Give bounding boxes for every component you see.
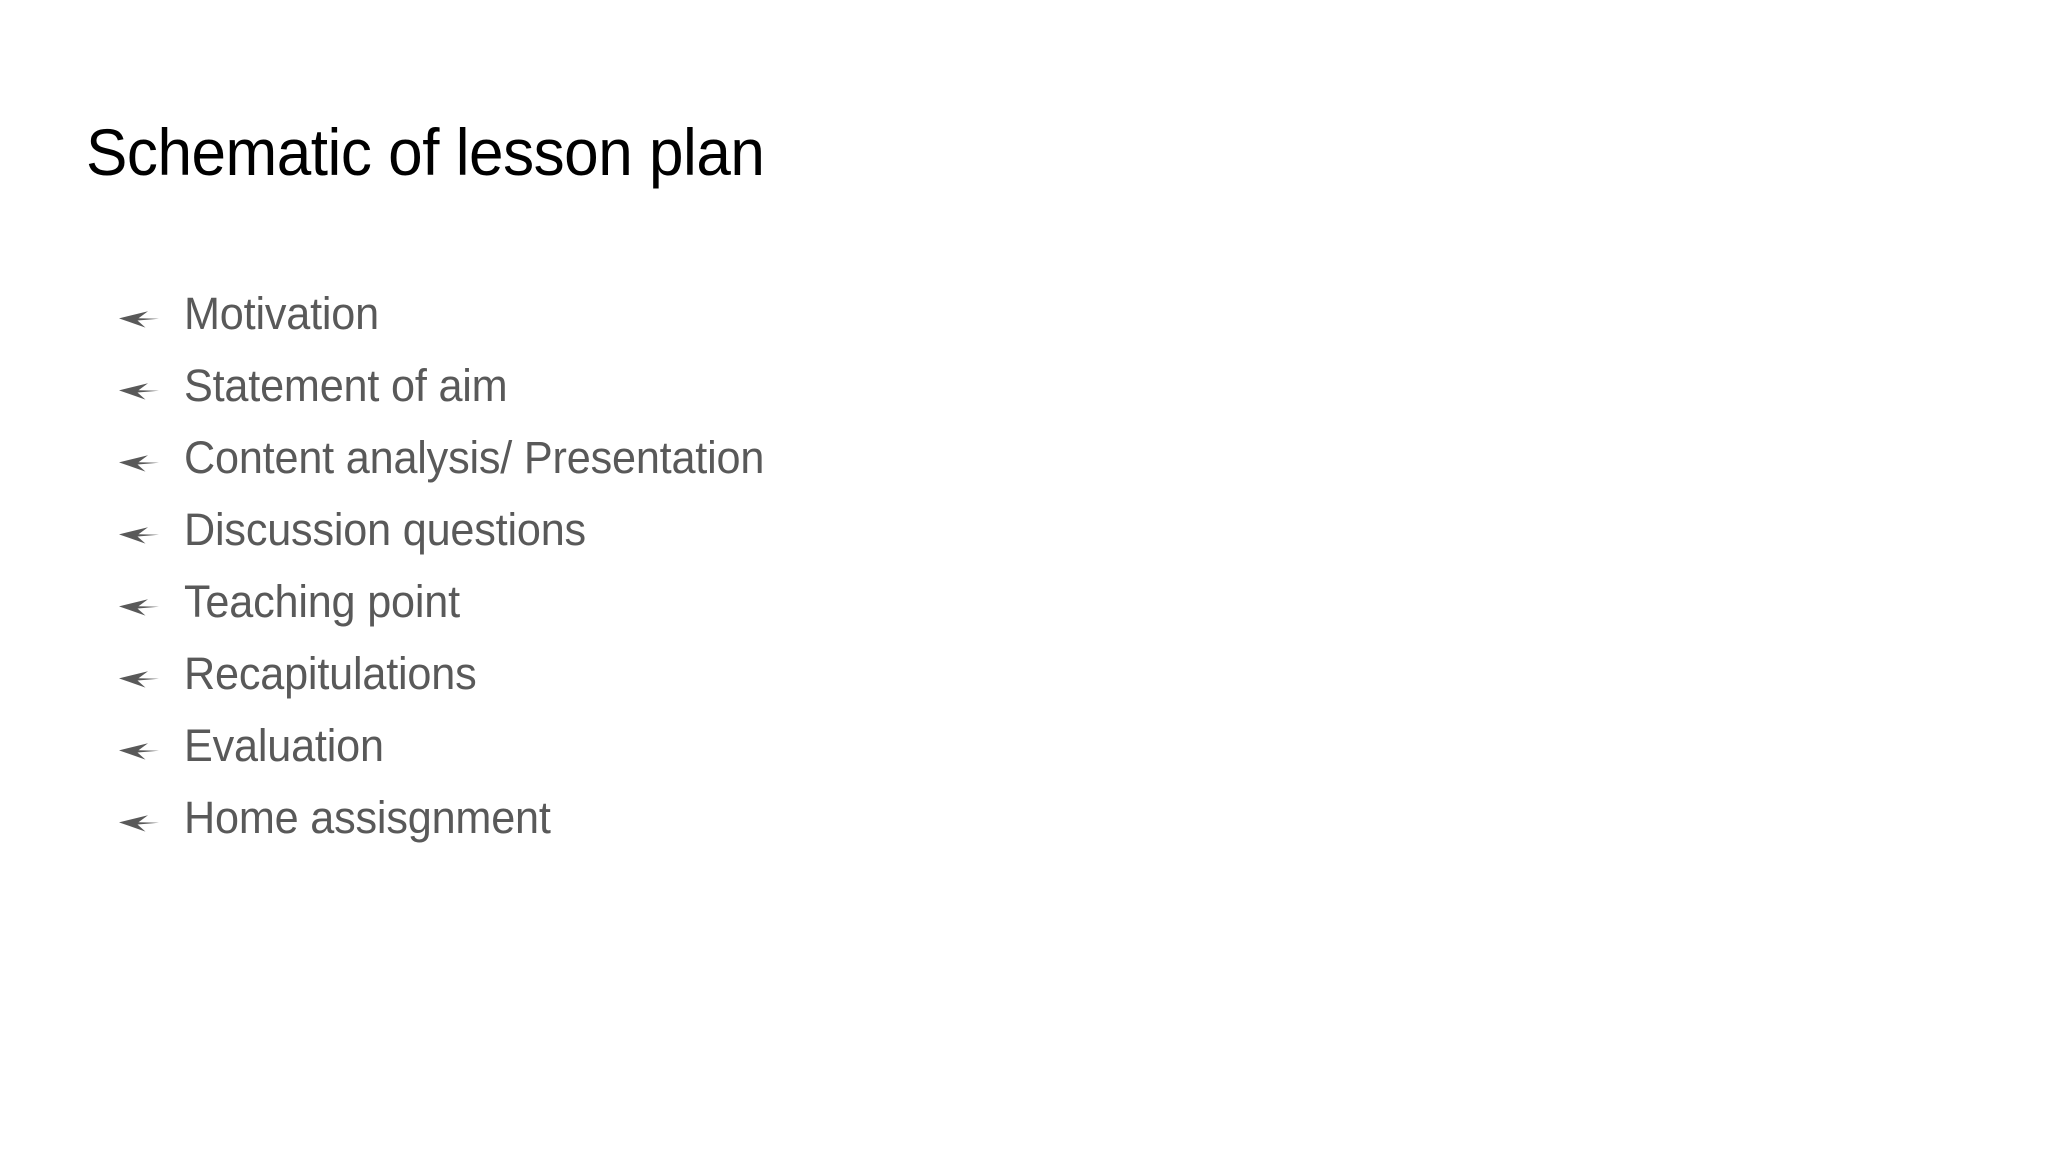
arrowhead-bullet-icon — [118, 283, 184, 329]
list-item: Content analysis/ Presentation — [118, 422, 1818, 494]
arrowhead-bullet-icon — [118, 643, 184, 689]
arrowhead-bullet-icon — [118, 571, 184, 617]
list-item: Home assisgnment — [118, 782, 1818, 854]
list-item-label: Evaluation — [184, 710, 384, 782]
list-item-label: Statement of aim — [184, 350, 507, 422]
arrowhead-bullet-icon — [118, 787, 184, 833]
list-item-label: Home assisgnment — [184, 782, 551, 854]
arrowhead-bullet-icon — [118, 715, 184, 761]
list-item-label: Recapitulations — [184, 638, 477, 710]
list-item: Teaching point — [118, 566, 1818, 638]
list-item: Evaluation — [118, 710, 1818, 782]
presentation-slide: Schematic of lesson plan Motivation Stat… — [0, 0, 2048, 1152]
list-item-label: Motivation — [184, 278, 379, 350]
list-item: Motivation — [118, 278, 1818, 350]
list-item: Statement of aim — [118, 350, 1818, 422]
list-item-label: Teaching point — [184, 566, 460, 638]
arrowhead-bullet-icon — [118, 427, 184, 473]
arrowhead-bullet-icon — [118, 355, 184, 401]
page-title: Schematic of lesson plan — [86, 118, 764, 187]
list-item: Discussion questions — [118, 494, 1818, 566]
list-item-label: Content analysis/ Presentation — [184, 422, 764, 494]
lesson-plan-bullet-list: Motivation Statement of aim Content anal… — [118, 278, 1818, 854]
list-item: Recapitulations — [118, 638, 1818, 710]
arrowhead-bullet-icon — [118, 499, 184, 545]
list-item-label: Discussion questions — [184, 494, 586, 566]
